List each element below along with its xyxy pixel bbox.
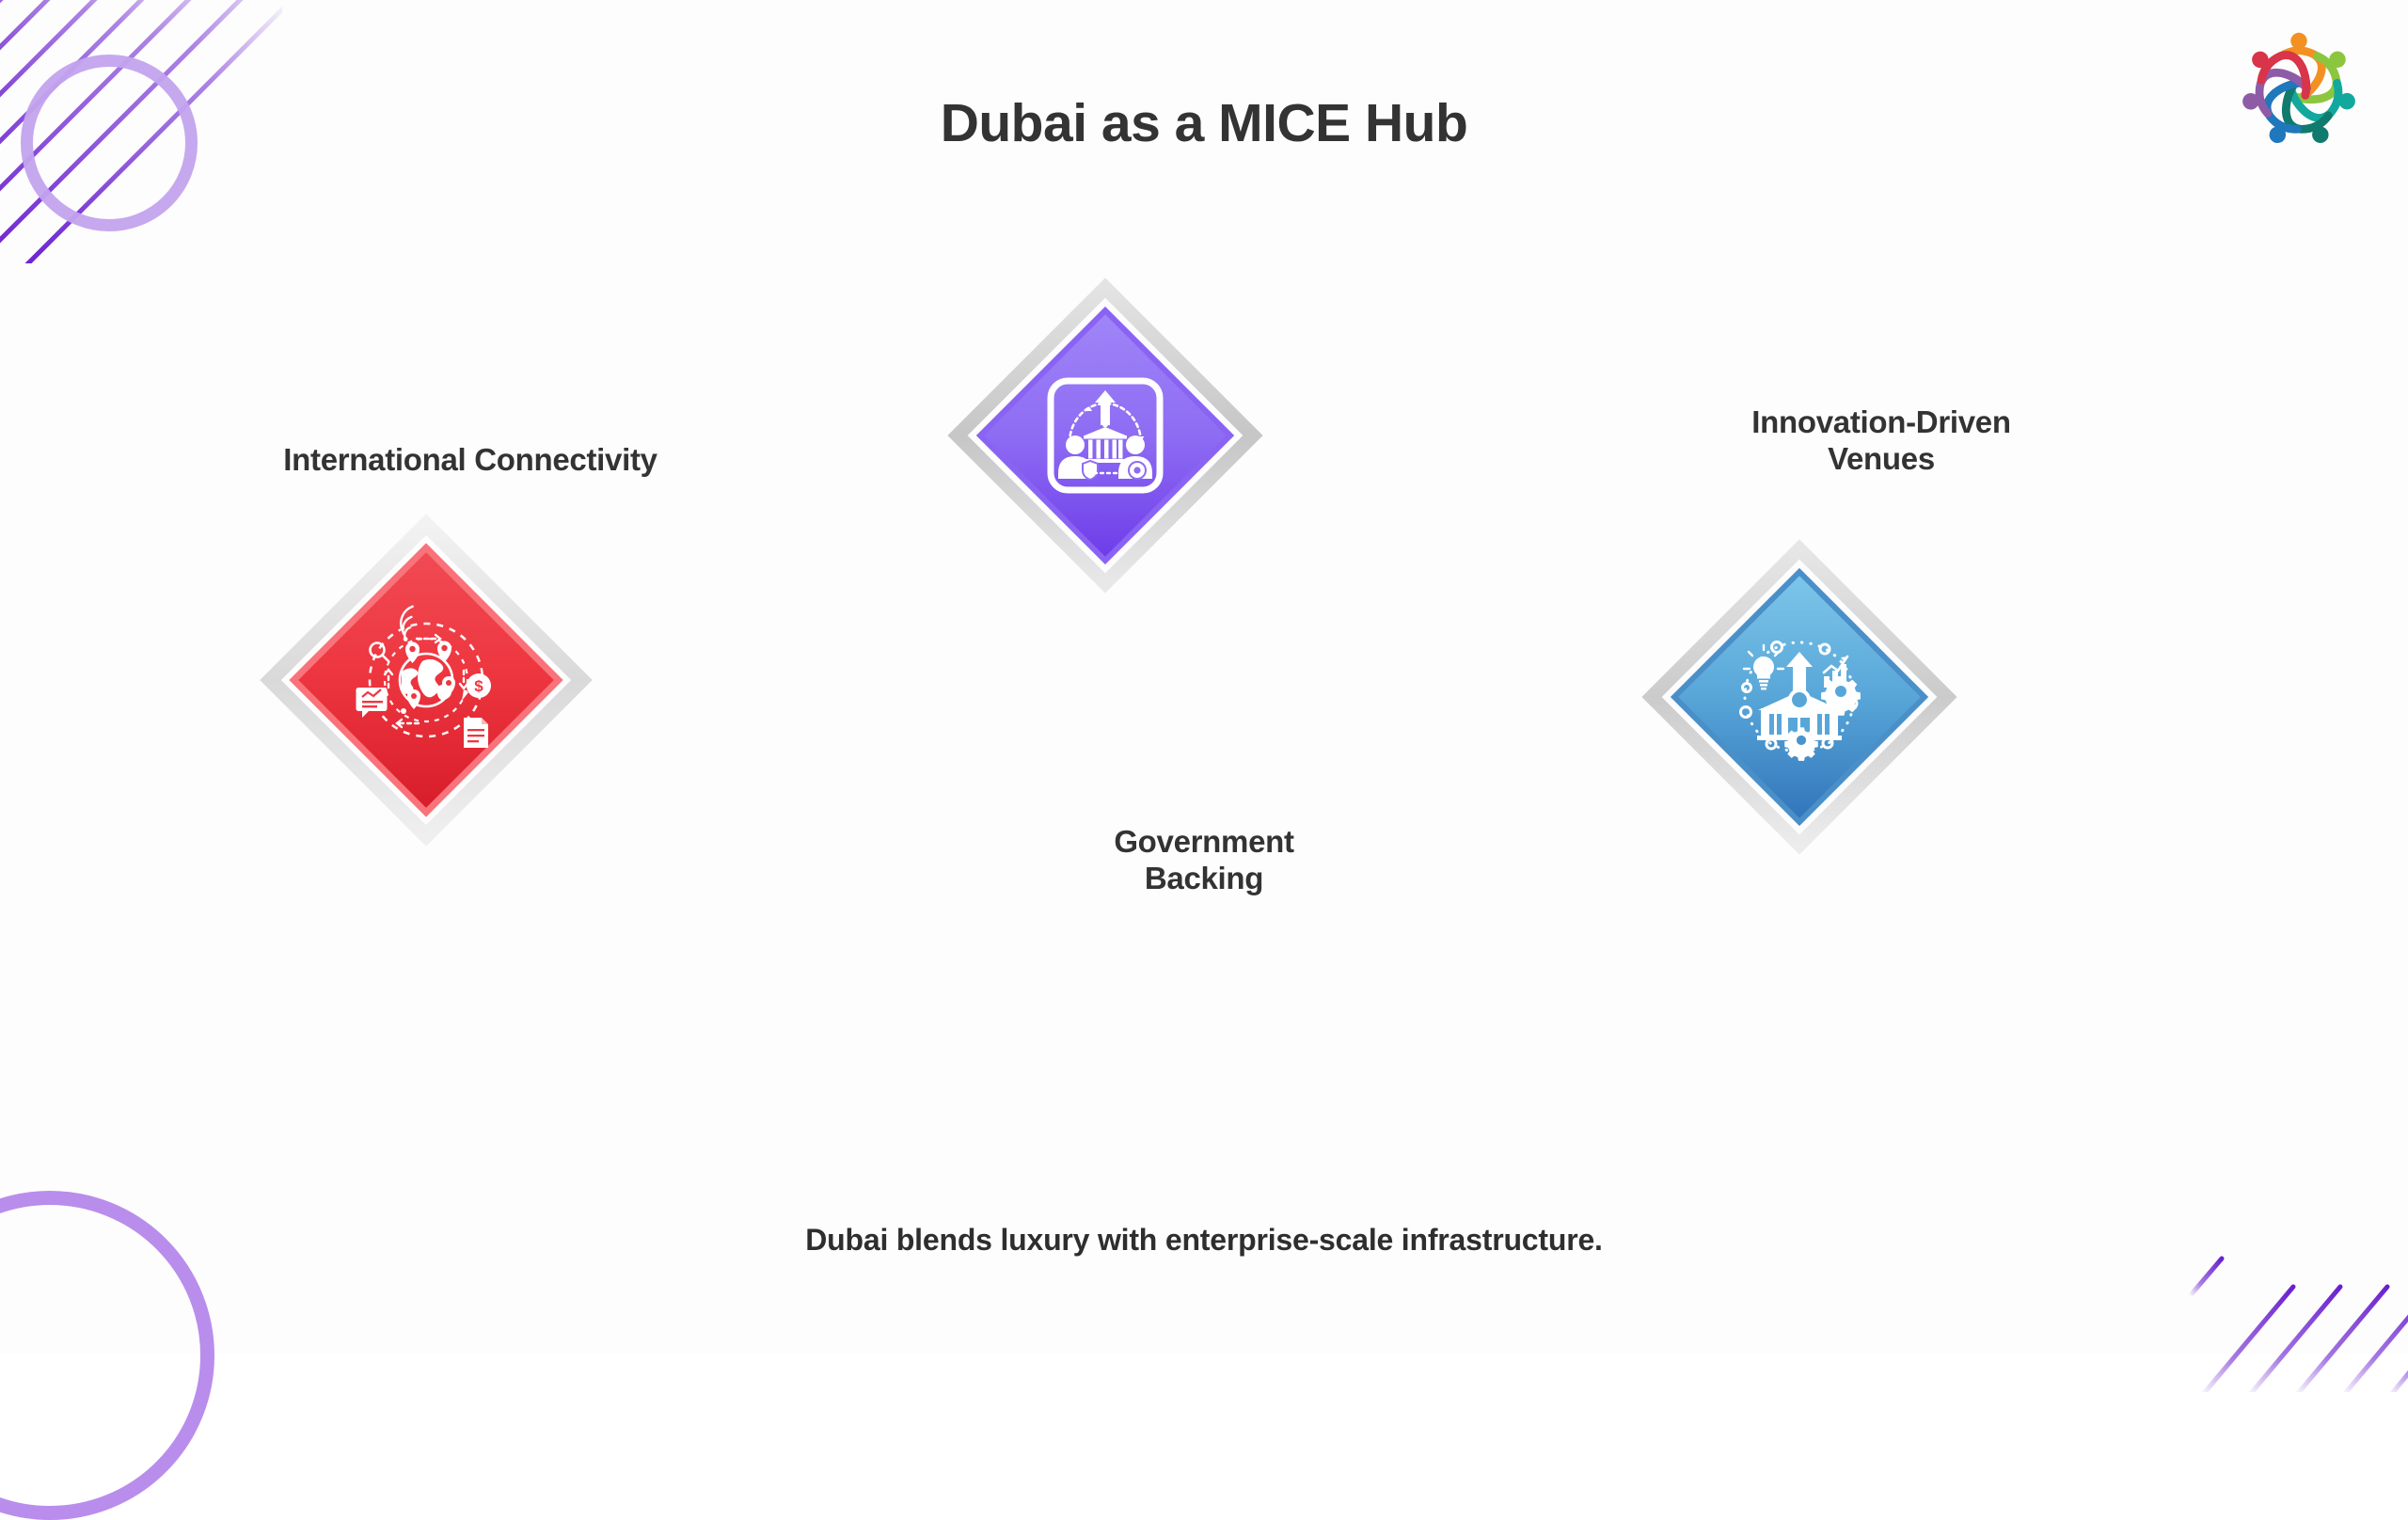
gear-icon [1821,676,1861,716]
pillar-label-venues-line1: Innovation-Driven [1618,404,2145,441]
pillar-label-venues: Innovation-Driven Venues [1618,404,2145,477]
gear-icon [1784,727,1818,761]
svg-text:$: $ [474,677,483,695]
page-title: Dubai as a MICE Hub [0,92,2408,154]
diamond-venues[interactable] [1654,551,1945,843]
slide-caption: Dubai blends luxury with enterprise-scal… [0,1223,2408,1258]
pillar-label-government: Government Backing [997,824,1411,896]
pillar-label-venues-line2: Venues [1618,441,2145,478]
diamond-government[interactable] [959,290,1251,581]
pillar-label-connectivity: International Connectivity [132,442,809,479]
pillar-label-government-line1: Government [997,824,1411,861]
diamond-connectivity[interactable]: $ [271,525,581,835]
pillar-label-government-line2: Backing [997,861,1411,897]
diagonal-stripes-bottom-right-icon [2173,1148,2408,1392]
